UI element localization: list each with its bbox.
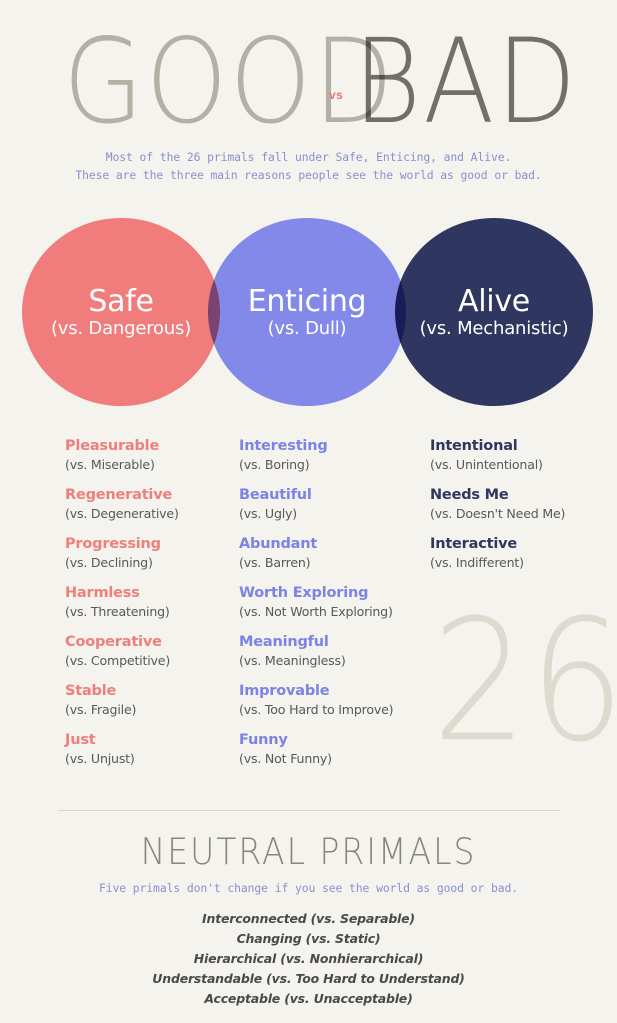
primal-negative: (vs. Doesn't Need Me) xyxy=(430,505,565,522)
primal-item: Stable (vs. Fragile) xyxy=(65,682,179,718)
neutral-primals-heading: NEUTRAL PRIMALS xyxy=(0,830,617,874)
header-subtitle: Most of the 26 primals fall under Safe, … xyxy=(0,148,617,184)
primal-item: Abundant (vs. Barren) xyxy=(239,535,393,571)
primal-negative: (vs. Boring) xyxy=(239,456,393,473)
primal-item: Just (vs. Unjust) xyxy=(65,731,179,767)
title-word-good: GOOD xyxy=(63,18,395,147)
primal-negative: (vs. Indifferent) xyxy=(430,554,565,571)
primal-negative: (vs. Not Funny) xyxy=(239,750,393,767)
primal-negative: (vs. Miserable) xyxy=(65,456,179,473)
neutral-list-item: Understandable (vs. Too Hard to Understa… xyxy=(0,969,617,989)
primal-positive: Improvable xyxy=(239,682,393,701)
primal-negative: (vs. Competitive) xyxy=(65,652,179,669)
venn-circle-safe xyxy=(22,218,220,406)
neutral-list-item: Hierarchical (vs. Nonhierarchical) xyxy=(0,949,617,969)
venn-circle-enticing xyxy=(208,218,406,406)
primal-positive: Needs Me xyxy=(430,486,565,505)
primal-columns: Pleasurable (vs. Miserable) Regenerative… xyxy=(0,437,617,787)
primal-positive: Intentional xyxy=(430,437,565,456)
primal-column-safe: Pleasurable (vs. Miserable) Regenerative… xyxy=(65,437,179,780)
primal-item: Pleasurable (vs. Miserable) xyxy=(65,437,179,473)
primal-item: Interesting (vs. Boring) xyxy=(239,437,393,473)
primal-positive: Abundant xyxy=(239,535,393,554)
primal-positive: Just xyxy=(65,731,179,750)
primal-positive: Progressing xyxy=(65,535,179,554)
title-word-bad: BAD xyxy=(353,18,578,147)
section-divider xyxy=(58,810,560,811)
primal-item: Funny (vs. Not Funny) xyxy=(239,731,393,767)
primal-item: Regenerative (vs. Degenerative) xyxy=(65,486,179,522)
primal-column-enticing: Interesting (vs. Boring) Beautiful (vs. … xyxy=(239,437,393,780)
primal-item: Interactive (vs. Indifferent) xyxy=(430,535,565,571)
primal-item: Worth Exploring (vs. Not Worth Exploring… xyxy=(239,584,393,620)
primal-positive: Beautiful xyxy=(239,486,393,505)
primal-positive: Worth Exploring xyxy=(239,584,393,603)
venn-circle-alive xyxy=(395,218,593,406)
primal-positive: Meaningful xyxy=(239,633,393,652)
primal-item: Improvable (vs. Too Hard to Improve) xyxy=(239,682,393,718)
primal-item: Beautiful (vs. Ugly) xyxy=(239,486,393,522)
primal-positive: Interesting xyxy=(239,437,393,456)
primal-item: Intentional (vs. Unintentional) xyxy=(430,437,565,473)
primal-negative: (vs. Unjust) xyxy=(65,750,179,767)
neutral-primals-list: Interconnected (vs. Separable) Changing … xyxy=(0,909,617,1009)
primal-negative: (vs. Barren) xyxy=(239,554,393,571)
primal-negative: (vs. Ugly) xyxy=(239,505,393,522)
title-vs-label: vs xyxy=(329,88,343,102)
primal-positive: Interactive xyxy=(430,535,565,554)
neutral-list-item: Interconnected (vs. Separable) xyxy=(0,909,617,929)
neutral-primals-subtitle: Five primals don't change if you see the… xyxy=(0,880,617,897)
neutral-list-item: Changing (vs. Static) xyxy=(0,929,617,949)
primal-item: Progressing (vs. Declining) xyxy=(65,535,179,571)
primal-item: Meaningful (vs. Meaningless) xyxy=(239,633,393,669)
primal-positive: Cooperative xyxy=(65,633,179,652)
venn-diagram: Safe (vs. Dangerous) Enticing (vs. Dull)… xyxy=(0,212,617,412)
primal-item: Harmless (vs. Threatening) xyxy=(65,584,179,620)
neutral-list-item: Acceptable (vs. Unacceptable) xyxy=(0,989,617,1009)
primal-positive: Funny xyxy=(239,731,393,750)
primal-positive: Pleasurable xyxy=(65,437,179,456)
primal-negative: (vs. Degenerative) xyxy=(65,505,179,522)
primal-column-alive: Intentional (vs. Unintentional) Needs Me… xyxy=(430,437,565,584)
header: GOOD BAD vs Most of the 26 primals fall … xyxy=(0,0,617,200)
primal-negative: (vs. Too Hard to Improve) xyxy=(239,701,393,718)
primal-negative: (vs. Fragile) xyxy=(65,701,179,718)
title-row: GOOD BAD vs xyxy=(0,18,617,133)
neutral-primals-section: NEUTRAL PRIMALS Five primals don't chang… xyxy=(0,832,617,1009)
header-subtitle-line-2: These are the three main reasons people … xyxy=(0,166,617,184)
primal-positive: Harmless xyxy=(65,584,179,603)
primal-negative: (vs. Not Worth Exploring) xyxy=(239,603,393,620)
primal-item: Needs Me (vs. Doesn't Need Me) xyxy=(430,486,565,522)
primal-negative: (vs. Threatening) xyxy=(65,603,179,620)
primal-negative: (vs. Declining) xyxy=(65,554,179,571)
primal-positive: Regenerative xyxy=(65,486,179,505)
primal-negative: (vs. Unintentional) xyxy=(430,456,565,473)
primal-positive: Stable xyxy=(65,682,179,701)
primal-item: Cooperative (vs. Competitive) xyxy=(65,633,179,669)
header-subtitle-line-1: Most of the 26 primals fall under Safe, … xyxy=(0,148,617,166)
primal-negative: (vs. Meaningless) xyxy=(239,652,393,669)
